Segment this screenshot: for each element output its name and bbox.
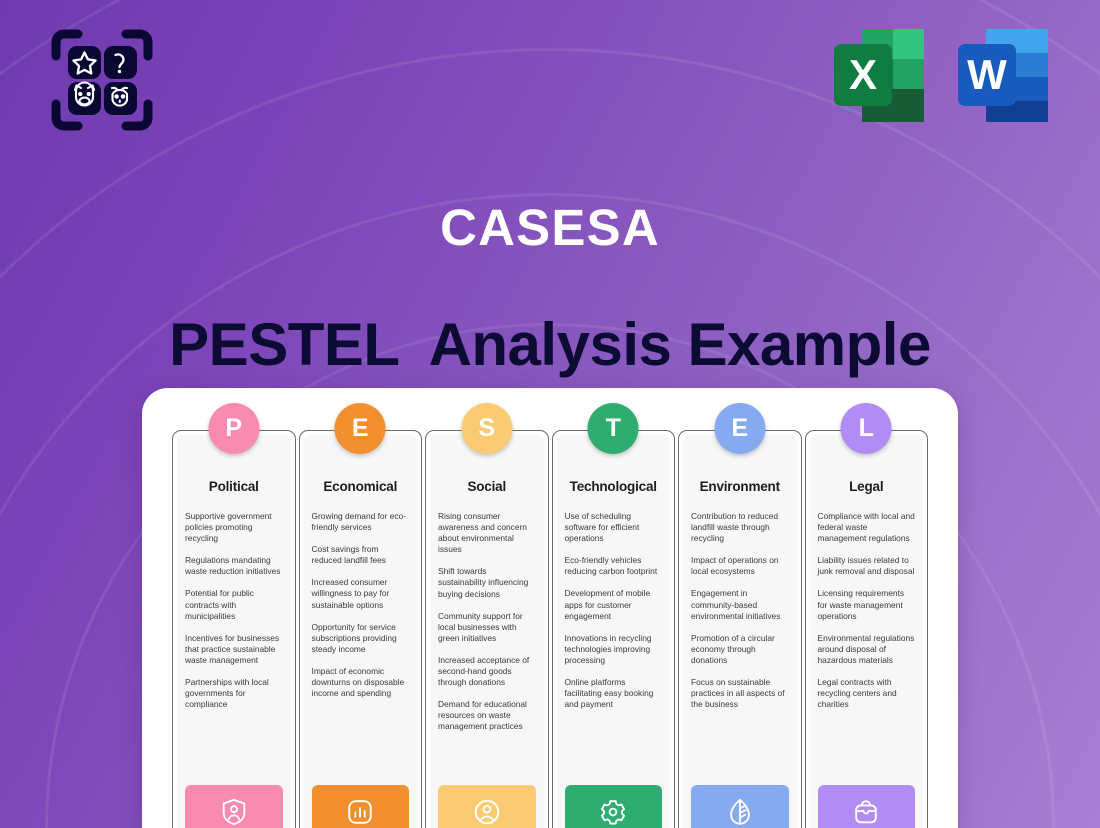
badge-letter-t: T (588, 403, 639, 454)
point-item: Supportive government policies promoting… (185, 511, 283, 544)
badge-letter-p: P (208, 403, 259, 454)
column-icon-tile (438, 785, 536, 828)
pestel-card: P Political Supportive government polici… (142, 388, 958, 828)
column-icon-tile (312, 785, 410, 828)
column-points: Rising consumer awareness and concern ab… (438, 511, 536, 733)
svg-text:W: W (967, 51, 1007, 98)
bar-chart-icon (345, 797, 375, 827)
point-item: Demand for educational resources on wast… (438, 699, 536, 732)
leaf-icon (725, 797, 755, 827)
column-title: Social (438, 479, 536, 494)
scan-pets-logo-icon (48, 26, 156, 134)
shield-user-icon (219, 797, 249, 827)
point-item: Environmental regulations around disposa… (818, 633, 916, 666)
brand-name: CASESA (0, 198, 1100, 257)
poster-canvas: X W CASESA PESTEL Analysis Example P (0, 0, 1100, 828)
column-points: Supportive government policies promoting… (185, 511, 283, 710)
badge-letter-e1: E (335, 403, 386, 454)
point-item: Development of mobile apps for customer … (565, 588, 663, 621)
badge-letter-l: L (841, 403, 892, 454)
point-item: Impact of economic downturns on disposab… (312, 666, 410, 699)
column-icon-tile (565, 785, 663, 828)
column-title: Legal (818, 479, 916, 494)
point-item: Increased acceptance of second-hand good… (438, 655, 536, 688)
point-item: Online platforms facilitating easy booki… (565, 677, 663, 710)
excel-icon: X (830, 27, 928, 124)
point-item: Promotion of a circular economy through … (691, 633, 789, 666)
point-item: Innovations in recycling technologies im… (565, 633, 663, 666)
column-title: Technological (565, 479, 663, 494)
point-item: Liability issues related to junk removal… (818, 555, 916, 577)
column-body: Technological Use of scheduling software… (557, 435, 671, 828)
point-item: Shift towards sustainability influencing… (438, 566, 536, 599)
column-title: Economical (312, 479, 410, 494)
badge-letter-s: S (461, 403, 512, 454)
column-body: Social Rising consumer awareness and con… (430, 435, 544, 828)
point-item: Incentives for businesses that practice … (185, 633, 283, 666)
column-body: Environment Contribution to reduced land… (683, 435, 797, 828)
column-points: Contribution to reduced landfill waste t… (691, 511, 789, 710)
pestel-column-environment[interactable]: E Environment Contribution to reduced la… (678, 430, 802, 828)
point-item: Growing demand for eco-friendly services (312, 511, 410, 533)
column-points: Compliance with local and federal waste … (818, 511, 916, 710)
point-item: Rising consumer awareness and concern ab… (438, 511, 536, 555)
point-item: Impact of operations on local ecosystems (691, 555, 789, 577)
badge-letter-text: P (225, 414, 242, 443)
badge-letter-text: S (478, 414, 495, 443)
point-item: Regulations mandating waste reduction in… (185, 555, 283, 577)
column-body: Economical Growing demand for eco-friend… (304, 435, 418, 828)
pestel-column-political[interactable]: P Political Supportive government polici… (172, 430, 296, 828)
gear-icon (598, 797, 628, 827)
briefcase-icon (851, 797, 881, 827)
point-item: Contribution to reduced landfill waste t… (691, 511, 789, 544)
column-body: Legal Compliance with local and federal … (810, 435, 924, 828)
badge-letter-text: E (731, 414, 748, 443)
point-item: Compliance with local and federal waste … (818, 511, 916, 544)
point-item: Focus on sustainable practices in all as… (691, 677, 789, 710)
badge-letter-text: L (859, 414, 874, 443)
point-item: Partnerships with local governments for … (185, 677, 283, 710)
pestel-column-technological[interactable]: T Technological Use of scheduling softwa… (552, 430, 676, 828)
badge-letter-text: T (606, 414, 621, 443)
office-icons-group: X W (830, 27, 1052, 124)
point-item: Eco-friendly vehicles reducing carbon fo… (565, 555, 663, 577)
pestel-columns: P Political Supportive government polici… (172, 430, 928, 828)
pestel-column-legal[interactable]: L Legal Compliance with local and federa… (805, 430, 929, 828)
column-title: Environment (691, 479, 789, 494)
badge-letter-text: E (352, 414, 369, 443)
column-title: Political (185, 479, 283, 494)
column-points: Growing demand for eco-friendly services… (312, 511, 410, 699)
column-icon-tile (818, 785, 916, 828)
point-item: Opportunity for service subscriptions pr… (312, 622, 410, 655)
point-item: Increased consumer willingness to pay fo… (312, 577, 410, 610)
column-body: Political Supportive government policies… (177, 435, 291, 828)
point-item: Community support for local businesses w… (438, 611, 536, 644)
point-item: Potential for public contracts with muni… (185, 588, 283, 621)
pestel-column-economical[interactable]: E Economical Growing demand for eco-frie… (299, 430, 423, 828)
point-item: Engagement in community-based environmen… (691, 588, 789, 621)
column-points: Use of scheduling software for efficient… (565, 511, 663, 710)
svg-text:X: X (849, 51, 877, 98)
badge-letter-e2: E (714, 403, 765, 454)
point-item: Cost savings from reduced landfill fees (312, 544, 410, 566)
column-icon-tile (185, 785, 283, 828)
point-item: Licensing requirements for waste managem… (818, 588, 916, 621)
user-circle-icon (472, 797, 502, 827)
point-item: Use of scheduling software for efficient… (565, 511, 663, 544)
point-item: Legal contracts with recycling centers a… (818, 677, 916, 710)
word-icon: W (954, 27, 1052, 124)
column-icon-tile (691, 785, 789, 828)
pestel-column-social[interactable]: S Social Rising consumer awareness and c… (425, 430, 549, 828)
page-title: PESTEL Analysis Example (0, 310, 1100, 379)
